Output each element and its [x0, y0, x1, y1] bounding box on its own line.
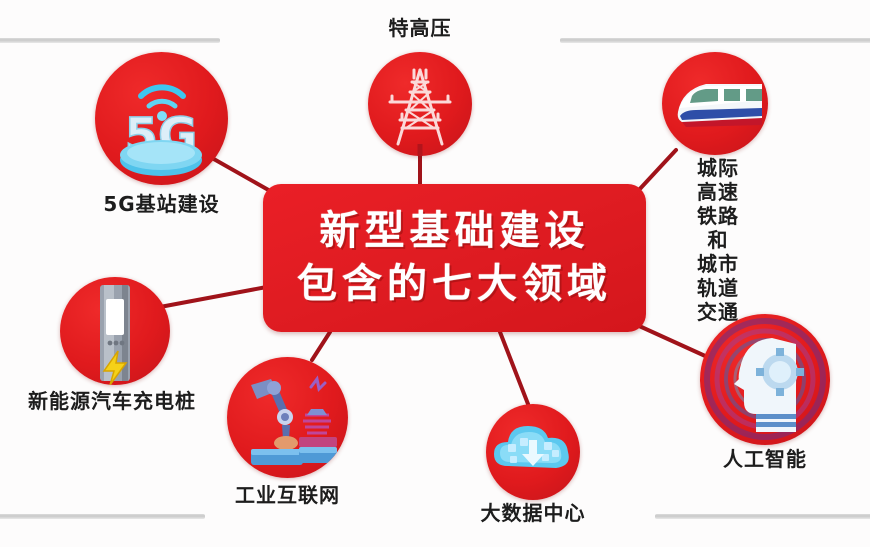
node-industrial-internet[interactable]: 工业互联网	[227, 357, 348, 478]
cloud-data-icon	[486, 404, 580, 500]
uhv-circle	[368, 52, 472, 156]
robot-arm-factory-icon	[227, 357, 348, 478]
node-bigdata-label: 大数据中心	[481, 501, 586, 525]
ai-head-icon	[700, 314, 830, 445]
node-intercity-rail[interactable]: 城际高速铁路和 城市轨道交通	[662, 52, 768, 155]
node-industrial-label: 工业互联网	[235, 483, 340, 507]
5g-circle: 5G	[95, 52, 228, 185]
ev-charging-pile-icon	[60, 277, 170, 385]
5g-base-station-icon: 5G	[95, 52, 228, 185]
center-callout: 新型基础建设 包含的七大领域	[263, 184, 646, 332]
high-speed-train-icon	[662, 52, 768, 155]
connector-industrial	[312, 332, 330, 360]
charging-circle	[60, 277, 170, 385]
connector-charging	[160, 286, 272, 307]
node-ev-charging-pile[interactable]: 新能源汽车充电桩	[60, 277, 170, 385]
node-ultra-high-voltage[interactable]: 特高压	[368, 52, 472, 156]
node-big-data-center[interactable]: 大数据中心	[486, 404, 580, 500]
ai-circle	[700, 314, 830, 445]
connector-bigdata	[500, 332, 528, 404]
node-rail-label-line-1: 城际高速铁路和	[697, 156, 739, 252]
node-5g-base-station[interactable]: 5G 5G基站建设	[95, 52, 228, 185]
node-charging-label: 新能源汽车充电桩	[28, 389, 196, 413]
node-5g-label: 5G基站建设	[103, 192, 219, 216]
node-artificial-intelligence[interactable]: 人工智能	[700, 314, 830, 445]
node-uhv-label: 特高压	[389, 16, 452, 40]
connector-rail	[637, 150, 676, 192]
node-rail-label: 城际高速铁路和 城市轨道交通	[693, 156, 743, 324]
bigdata-circle	[486, 404, 580, 500]
infographic-canvas: 新型基础建设 包含的七大领域 5G 5G基站建设	[0, 0, 870, 547]
node-ai-label: 人工智能	[723, 447, 807, 471]
industrial-circle	[227, 357, 348, 478]
rail-circle	[662, 52, 768, 155]
center-title-line-1: 新型基础建设	[320, 207, 590, 256]
center-title-line-2: 包含的七大领域	[297, 260, 612, 309]
transmission-tower-icon	[368, 52, 472, 156]
